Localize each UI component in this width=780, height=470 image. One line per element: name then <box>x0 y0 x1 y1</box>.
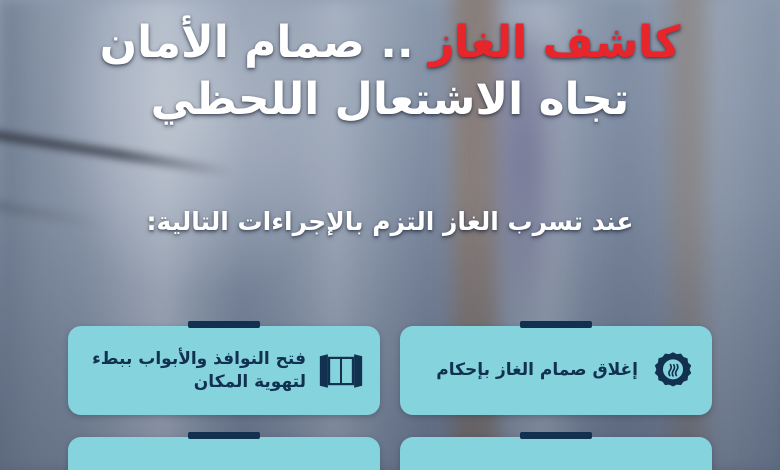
open-window-icon <box>318 348 364 394</box>
gas-safety-poster: كاشف الغاز .. صمام الأمان تجاه الاشتعال … <box>0 0 780 470</box>
gas-valve-icon <box>650 348 696 394</box>
headline-line-2: تجاه الاشتعال اللحظي <box>24 71 756 128</box>
poster-subtitle: عند تسرب الغاز التزم بالإجراءات التالية: <box>0 206 780 239</box>
instruction-card-grid: إغلاق صمام الغاز بإحكام فتح النوافذ والأ… <box>0 326 780 470</box>
headline-line-1: كاشف الغاز .. صمام الأمان <box>24 14 756 71</box>
poster-content: كاشف الغاز .. صمام الأمان تجاه الاشتعال … <box>0 0 780 470</box>
headline-line-1-rest: .. صمام الأمان <box>100 17 429 68</box>
instruction-card-open-windows[interactable]: فتح النوافذ والأبواب ببطء لتهوية المكان <box>68 326 380 415</box>
instruction-card-text: إغلاق صمام الغاز بإحكام <box>414 359 638 382</box>
poster-headline: كاشف الغاز .. صمام الأمان تجاه الاشتعال … <box>0 14 780 128</box>
instruction-card-text: فتح النوافذ والأبواب ببطء لتهوية المكان <box>82 348 306 394</box>
instruction-card-close-gas-valve[interactable]: إغلاق صمام الغاز بإحكام <box>400 326 712 415</box>
partial-card-icon <box>318 459 364 470</box>
instruction-card-partial-left[interactable] <box>68 437 380 470</box>
headline-accent-text: كاشف الغاز <box>429 17 680 68</box>
partial-card-icon <box>650 459 696 470</box>
instruction-card-partial-right[interactable] <box>400 437 712 470</box>
